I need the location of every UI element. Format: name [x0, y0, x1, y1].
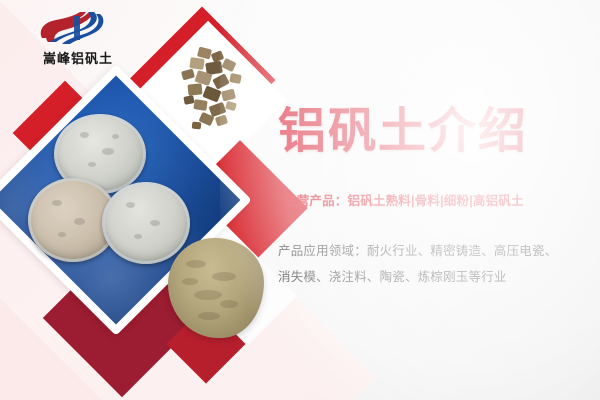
songfeng-s-monogram-icon: [34, 8, 106, 46]
application-fields-line-2: 消失模、浇注料、陶瓷、炼棕刚玉等行业: [278, 264, 578, 290]
company-name: 嵩峰铝矾土: [18, 48, 138, 67]
page-title: 铝矾土介绍: [278, 108, 528, 156]
application-fields-line-1: 产品应用领域：耐火行业、精密铸造、高压电瓷、: [278, 238, 578, 264]
banner-text-content: 铝矾土介绍 主营产品：铝矾土熟料|骨料|细粉|高铝矾土 产品应用领域：耐火行业、…: [278, 0, 588, 400]
application-fields-block: 产品应用领域：耐火行业、精密铸造、高压电瓷、 消失模、浇注料、陶瓷、炼棕刚玉等行…: [278, 238, 578, 291]
powder-dish-right: [102, 182, 190, 264]
dish-rim: [102, 182, 190, 264]
company-logo[interactable]: 嵩峰铝矾土: [18, 8, 138, 68]
bauxite-intro-banner: 嵩峰铝矾土 铝矾土介绍 主营产品：铝矾土熟料|骨料|细粉|高铝矾土 产品应用领域…: [0, 0, 600, 400]
bauxite-aggregate-photo: [168, 46, 260, 132]
main-products-line: 主营产品：铝矾土熟料|骨料|细粉|高铝矾土: [284, 190, 524, 209]
